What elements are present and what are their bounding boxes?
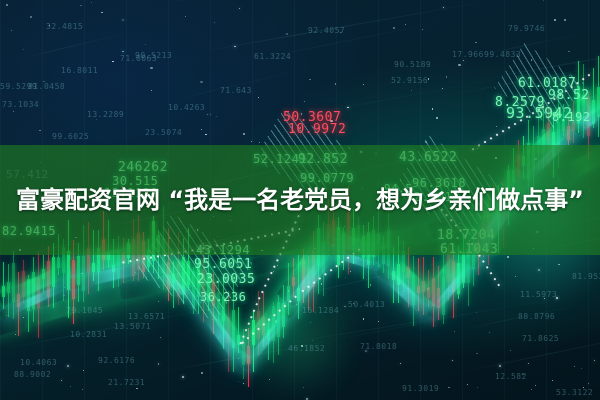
price-number: 90.5189: [394, 60, 431, 69]
price-number: 13.6571: [128, 312, 165, 321]
price-number: 16.1284: [302, 306, 339, 315]
price-number: 71.8625: [522, 334, 559, 343]
price-number: 88.9002: [14, 370, 51, 379]
price-number: 79.1045: [66, 306, 103, 315]
price-number: 71.643: [220, 86, 252, 95]
price-number: 36.236: [200, 290, 246, 304]
price-number: 53.3122: [556, 388, 593, 397]
price-number: 99.6025: [52, 132, 89, 141]
price-number: 81.0458: [28, 82, 65, 91]
price-number: 50.4013: [348, 300, 385, 309]
banner-headline-text: 富豪配资官网 “我是一名老党员，想为乡亲们做点事”: [0, 179, 600, 221]
price-number: 98.52: [548, 88, 590, 103]
price-number: 99.4833: [484, 50, 521, 59]
price-number: 10.4063: [20, 358, 57, 367]
price-number: 73.1034: [2, 100, 39, 109]
price-number: 32.4815: [46, 22, 83, 31]
price-number: 8.2579: [495, 95, 545, 110]
price-number: 10.2831: [70, 330, 107, 339]
price-number: 90.5213: [135, 51, 172, 60]
price-number: 92.6176: [98, 356, 135, 365]
price-number: 79.9746: [508, 24, 545, 33]
price-number: 11.5973: [520, 290, 557, 299]
price-number: 81.952: [572, 272, 600, 281]
glow-wedge: [230, 270, 360, 400]
price-number: 71.8018: [360, 342, 397, 351]
price-number: 52.9156: [391, 76, 428, 85]
price-number: 23.0035: [197, 272, 255, 287]
price-number: 21.7231: [108, 378, 145, 387]
price-number: 16.8011: [61, 66, 98, 75]
price-number: 8.192: [552, 110, 591, 124]
glow-wedge: [20, 250, 200, 340]
price-number: 88.8796: [518, 312, 555, 321]
price-number: 13.5071: [114, 322, 151, 331]
price-number: 23.5074: [145, 128, 182, 137]
price-number: 61.3224: [254, 52, 291, 61]
headline-banner: 富豪配资官网 “我是一名老党员，想为乡亲们做点事”: [0, 145, 600, 255]
price-number: 12.582: [495, 372, 527, 381]
market-banner-image: 93.594261.018798.528.25798.19250.360710.…: [0, 0, 600, 400]
price-number: 10.4263: [168, 103, 205, 112]
price-number: 91.3019: [402, 384, 439, 393]
price-number: 95.6051: [194, 257, 252, 272]
price-number: 10.9972: [288, 122, 346, 137]
price-number: 17.966: [452, 50, 484, 59]
price-number: 92.4057: [308, 26, 345, 35]
price-number: 13.2289: [87, 110, 124, 119]
price-number: 46.1852: [288, 344, 325, 353]
